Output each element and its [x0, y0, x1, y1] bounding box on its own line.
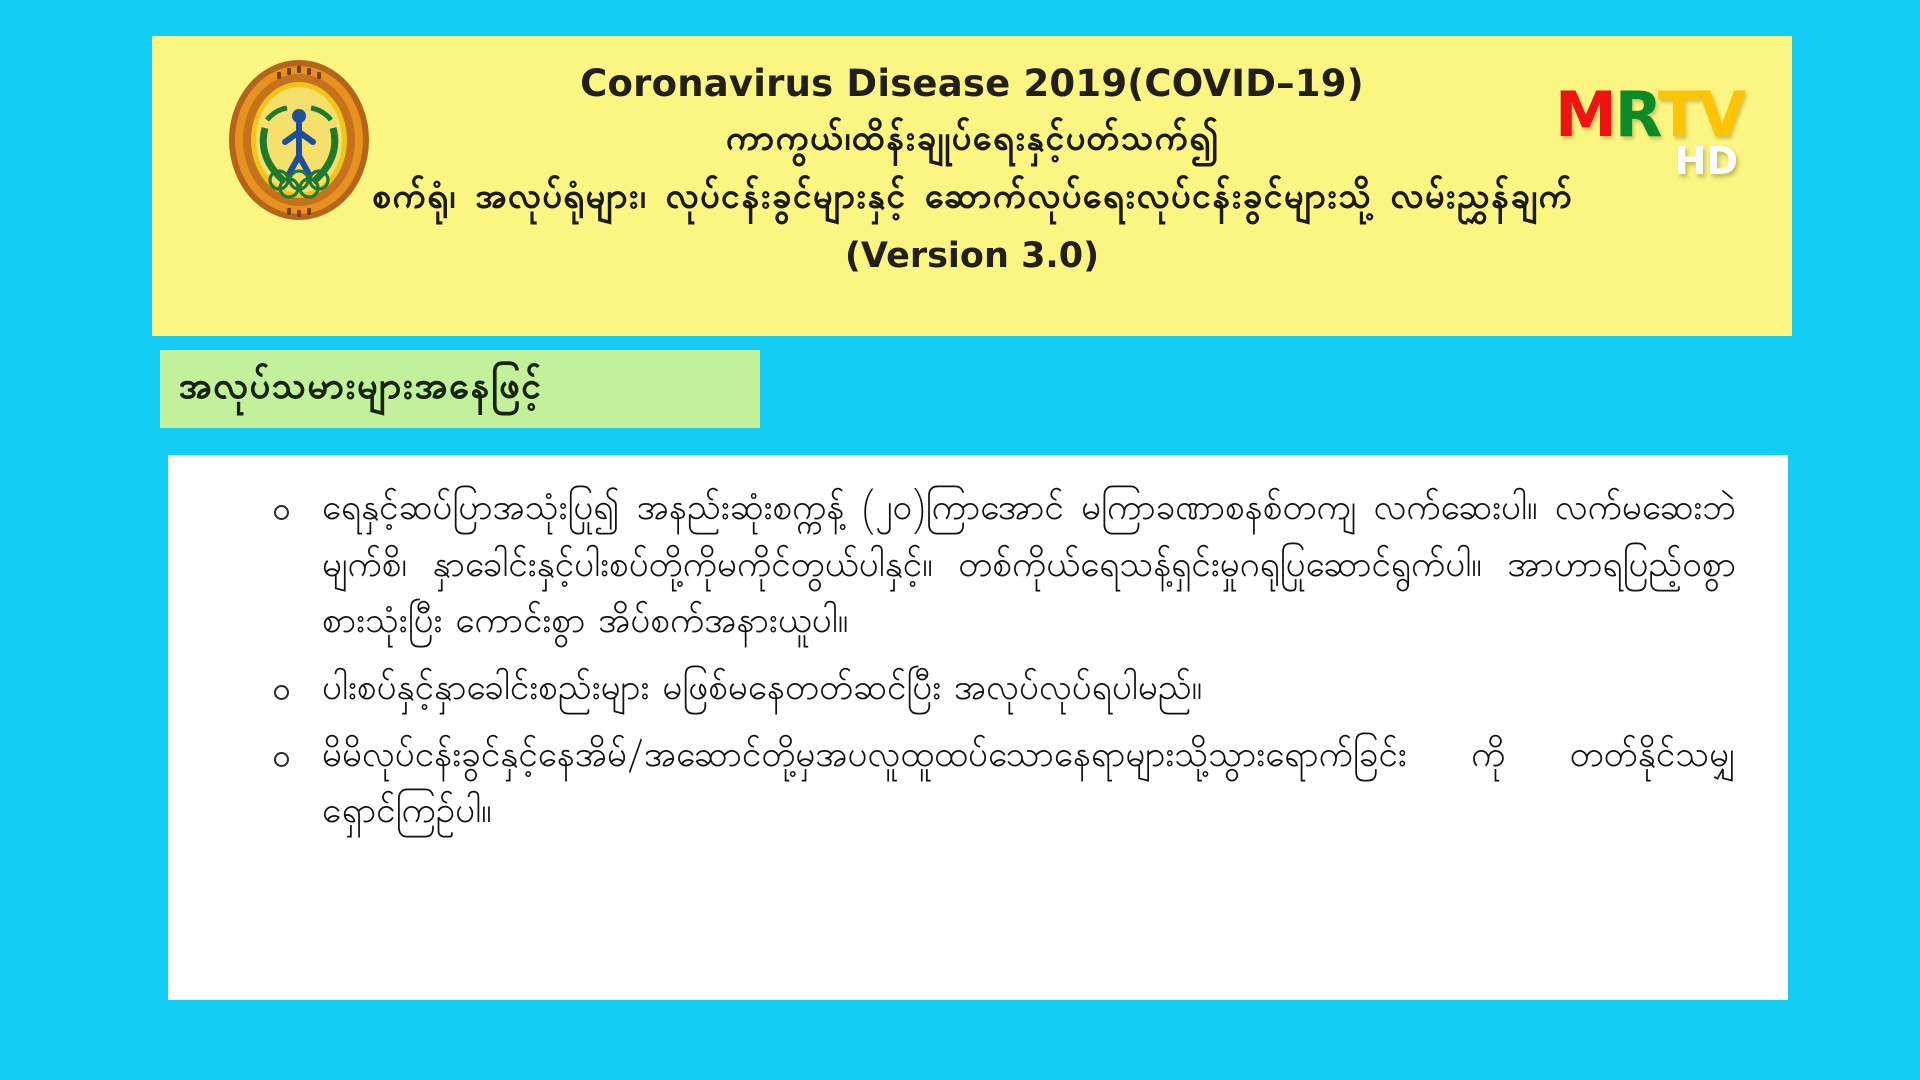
list-item-text: မိမိလုပ်ငန်းခွင်နှင့်နေအိမ်/အဆောင်တို့မှ…: [322, 732, 1736, 841]
title-version: (Version 3.0): [152, 236, 1792, 276]
list-item: မိမိလုပ်ငန်းခွင်နှင့်နေအိမ်/အဆောင်တို့မှ…: [264, 730, 1736, 843]
header-banner: Coronavirus Disease 2019(COVID–19) ကာကွယ…: [152, 36, 1792, 336]
bullet-circle-icon: [274, 752, 289, 767]
mrtv-letter-r: R: [1615, 78, 1658, 151]
section-banner: အလုပ်သမားများအနေဖြင့်: [160, 350, 760, 428]
content-card: ရေနှင့်ဆပ်ပြာအသုံးပြု၍ အနည်းဆုံးစက္ကန့် …: [168, 455, 1788, 1000]
list-item-text: ရေနှင့်ဆပ်ပြာအသုံးပြု၍ အနည်းဆုံးစက္ကန့် …: [322, 485, 1736, 650]
list-item-text: ပါးစပ်နှင့်နှာခေါင်းစည်းများ မဖြစ်မနေတတ်…: [322, 665, 1202, 717]
mrtv-wordmark: MRTV: [1494, 84, 1744, 146]
mrtv-letter-m: M: [1555, 78, 1615, 151]
bullet-circle-icon: [274, 685, 289, 700]
list-item: ပါးစပ်နှင့်နှာခေါင်းစည်းများ မဖြစ်မနေတတ်…: [264, 663, 1736, 720]
mrtv-hd-logo: MRTV HD: [1494, 84, 1744, 199]
bullet-circle-icon: [274, 505, 289, 520]
list-item: ရေနှင့်ဆပ်ပြာအသုံးပြု၍ အနည်းဆုံးစက္ကန့် …: [264, 483, 1736, 653]
section-banner-label: အလုပ်သမားများအနေဖြင့်: [178, 361, 542, 417]
guideline-bullet-list: ရေနှင့်ဆပ်ပြာအသုံးပြု၍ အနည်းဆုံးစက္ကန့် …: [264, 483, 1736, 843]
